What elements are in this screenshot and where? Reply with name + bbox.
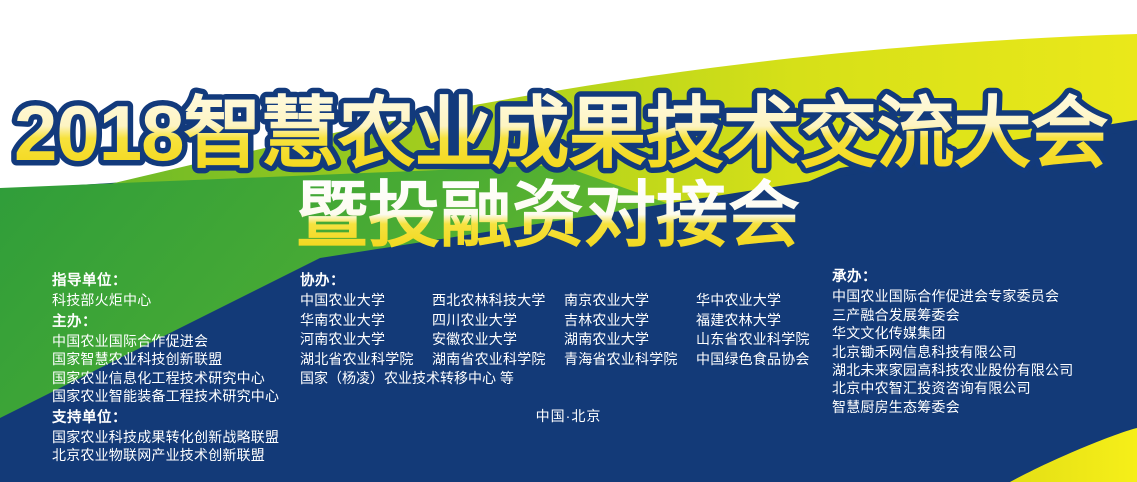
support-item: 北京农业物联网产业技术创新联盟 [52,446,279,464]
coorganizer-column: 协办： 中国农业大学 西北农林科技大学 南京农业大学 华中农业大学 华南农业大学… [300,272,828,387]
coorganizer-item: 安徽农业大学 [432,330,564,348]
organizer-item: 国家农业信息化工程技术研究中心 [52,369,279,387]
coorganizer-item: 湖北省农业科学院 [300,350,432,368]
coorganizer-item: 河南农业大学 [300,330,432,348]
conference-banner: 2018智慧农业成果技术交流大会 2018智慧农业成果技术交流大会 暨投融资对接… [0,0,1137,482]
coorganizer-item: 华南农业大学 [300,311,432,329]
coorganizer-heading: 协办： [300,272,828,291]
coorganizer-tail: 国家（杨凌）农业技术转移中心 等 [300,369,828,387]
coorganizer-grid: 中国农业大学 西北农林科技大学 南京农业大学 华中农业大学 华南农业大学 四川农… [300,291,828,368]
guide-column: 指导单位： 科技部火炬中心 主办： 中国农业国际合作促进会 国家智慧农业科技创新… [52,272,279,465]
support-item: 国家农业科技成果转化创新战略联盟 [52,428,279,446]
host-item: 北京锄禾网信息科技有限公司 [832,343,1073,361]
host-column: 承办： 中国农业国际合作促进会专家委员会 三产融合发展筹委会 华文文化传媒集团 … [832,268,1073,416]
host-item: 华文文化传媒集团 [832,324,1073,342]
host-item: 北京中农智汇投资咨询有限公司 [832,379,1073,397]
coorganizer-item: 湖南农业大学 [564,330,696,348]
host-item: 三产融合发展筹委会 [832,306,1073,324]
organizer-item: 中国农业国际合作促进会 [52,332,279,350]
coorganizer-item: 吉林农业大学 [564,311,696,329]
coorganizer-item: 青海省农业科学院 [564,350,696,368]
coorganizer-item: 西北农林科技大学 [432,291,564,309]
coorganizer-item: 福建农林大学 [696,311,828,329]
coorganizer-item: 湖南省农业科学院 [432,350,564,368]
organizer-item: 国家智慧农业科技创新联盟 [52,350,279,368]
organizer-heading: 主办： [52,313,279,332]
guide-heading: 指导单位： [52,272,279,291]
host-item: 湖北未来家园高科技农业股份有限公司 [832,361,1073,379]
coorganizer-item: 中国绿色食品协会 [696,350,828,368]
coorganizer-item: 四川农业大学 [432,311,564,329]
coorganizer-item: 南京农业大学 [564,291,696,309]
city-label: 中国·北京 [0,406,1137,426]
coorganizer-item: 华中农业大学 [696,291,828,309]
guide-item: 科技部火炬中心 [52,291,279,309]
coorganizer-item: 山东省农业科学院 [696,330,828,348]
organizer-item: 国家农业智能装备工程技术研究中心 [52,387,279,405]
coorganizer-item: 中国农业大学 [300,291,432,309]
host-item: 中国农业国际合作促进会专家委员会 [832,287,1073,305]
host-heading: 承办： [832,268,1073,287]
